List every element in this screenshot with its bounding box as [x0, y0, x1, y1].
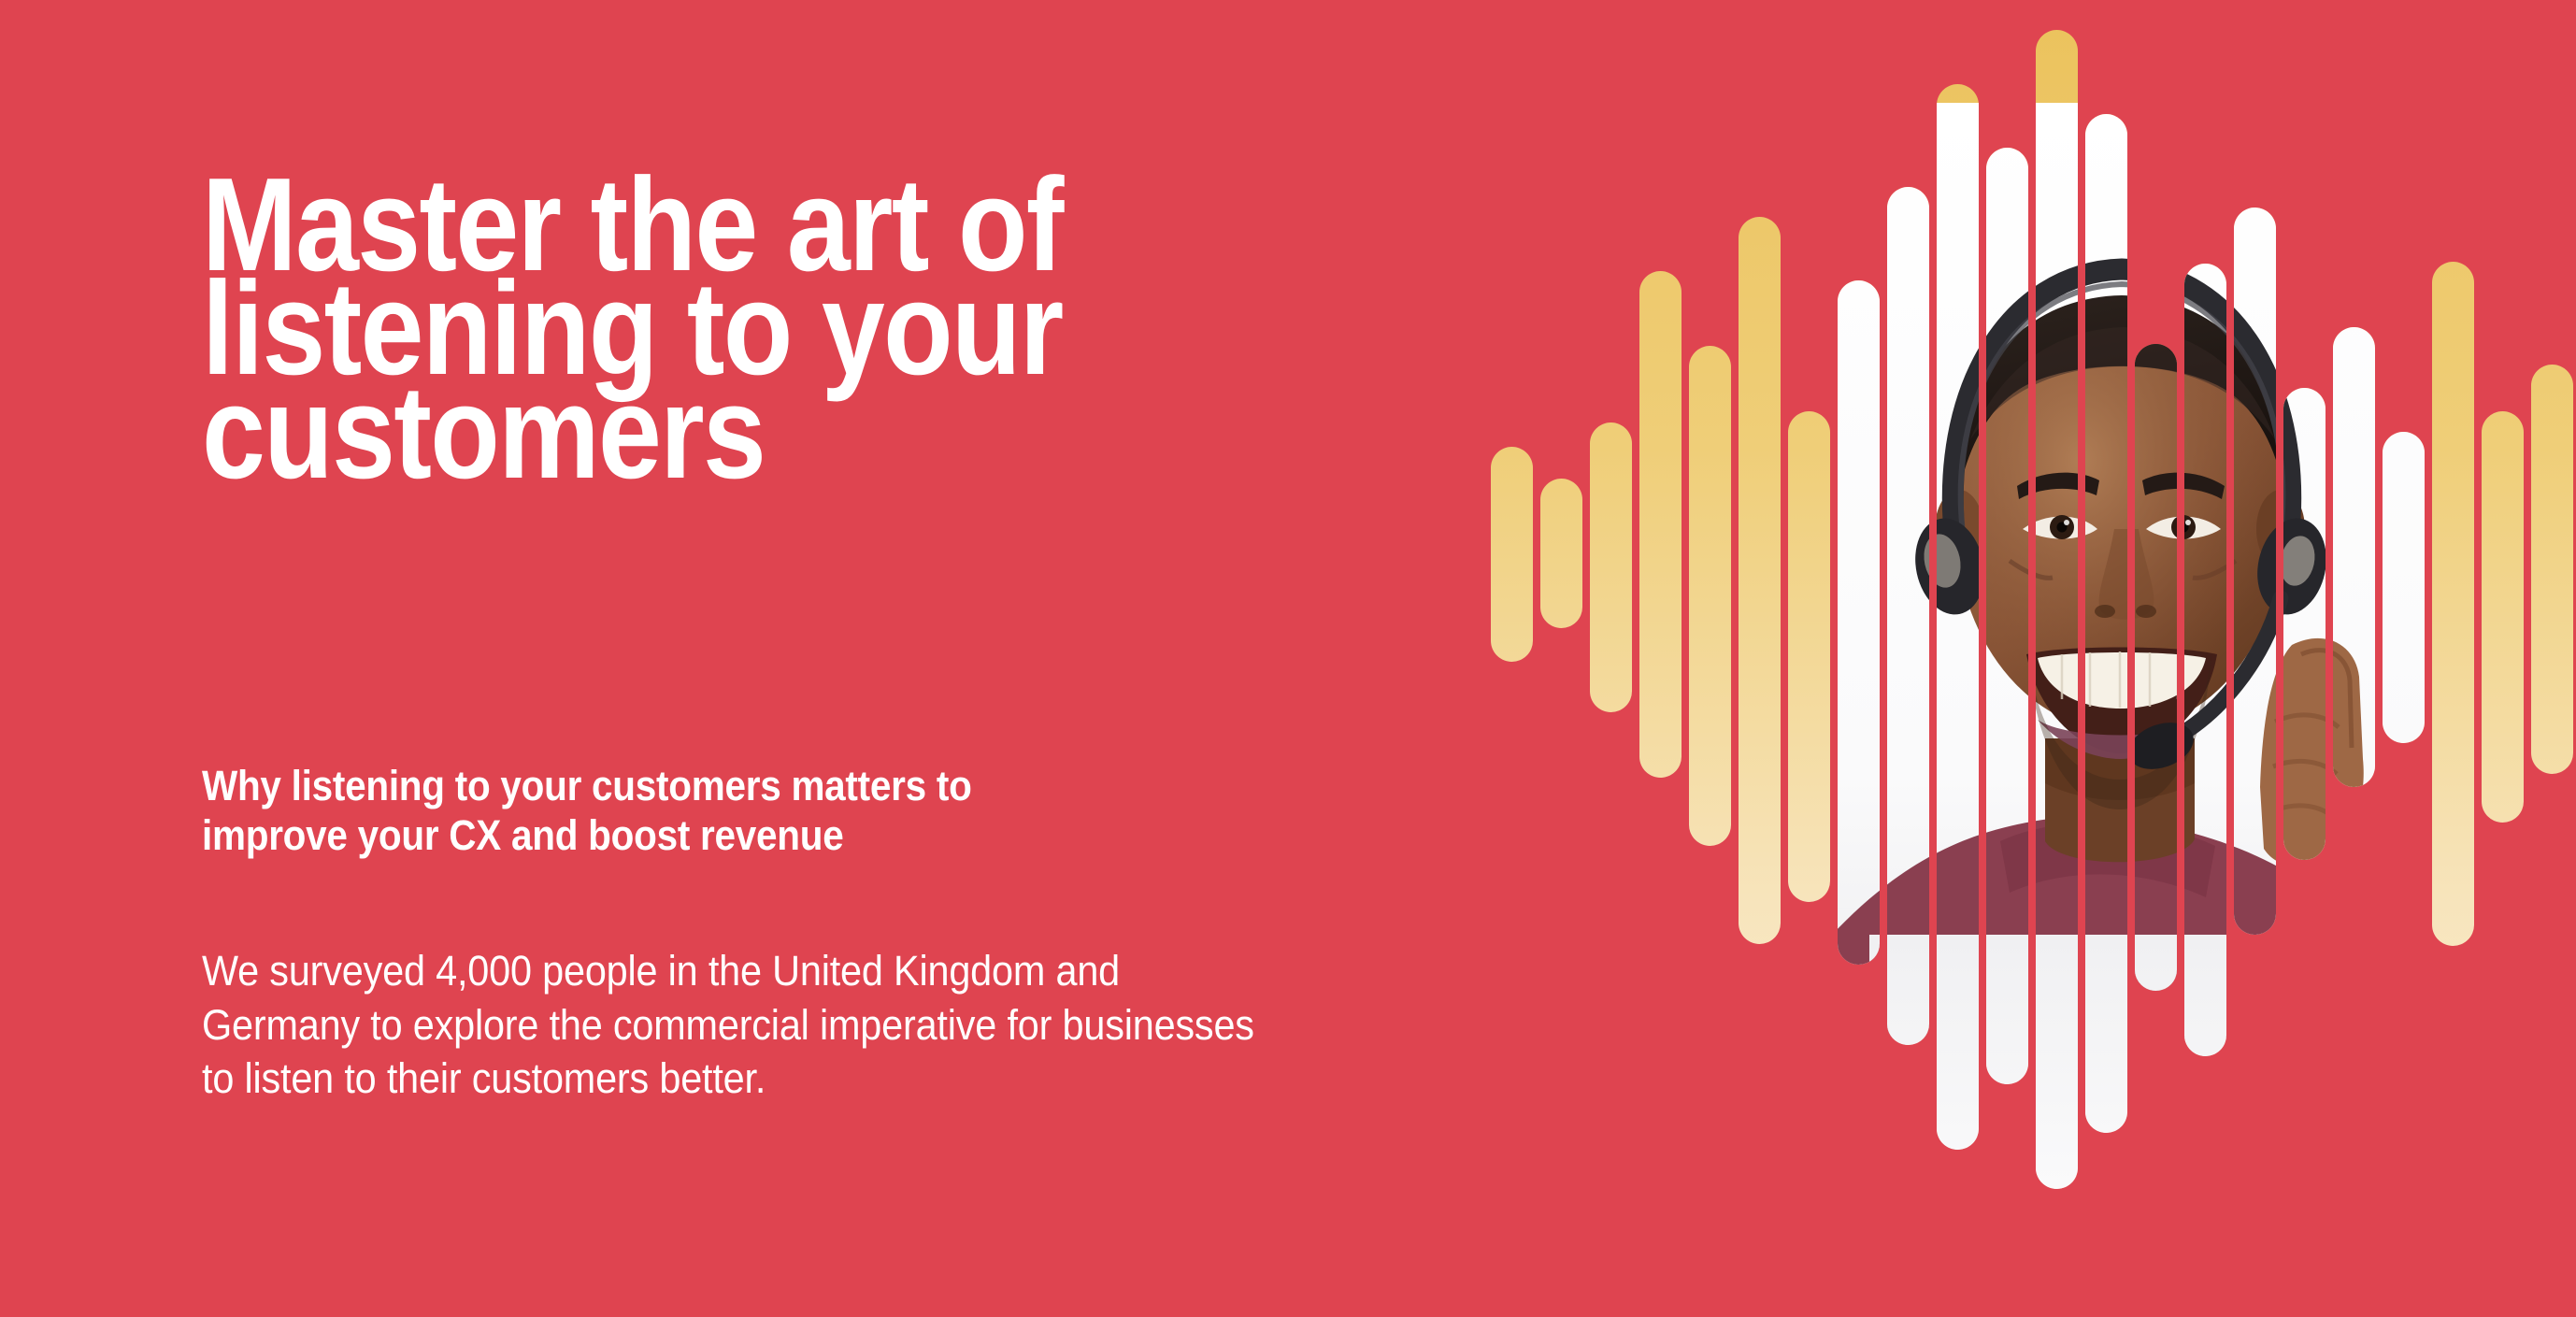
lower-lip	[2038, 720, 2204, 759]
face	[1955, 316, 2284, 731]
portrait-masked-in-bars	[1832, 103, 2430, 1038]
mic-boom	[2170, 598, 2281, 740]
mouth	[2026, 648, 2217, 754]
neck	[2045, 738, 2195, 862]
mic-windscreen	[2122, 714, 2199, 778]
bar-bottom-white-fade	[1869, 935, 2393, 1215]
hero-text-block: Master the art of listening to your cust…	[202, 174, 1791, 484]
hand	[2260, 638, 2364, 866]
teeth	[2038, 652, 2206, 709]
shirt	[1832, 815, 2430, 1038]
hero-banner: Master the art of listening to your cust…	[0, 0, 2576, 1317]
headset-band	[1953, 269, 2290, 542]
hero-subheadline: Why listening to your customers matters …	[202, 761, 972, 860]
earcup-right	[2249, 512, 2335, 622]
hair	[1955, 295, 2289, 512]
earcup-left	[1907, 512, 1993, 622]
hero-body-copy: We surveyed 4,000 people in the United K…	[202, 944, 1254, 1106]
page-title: Master the art of listening to your cust…	[202, 174, 1568, 484]
